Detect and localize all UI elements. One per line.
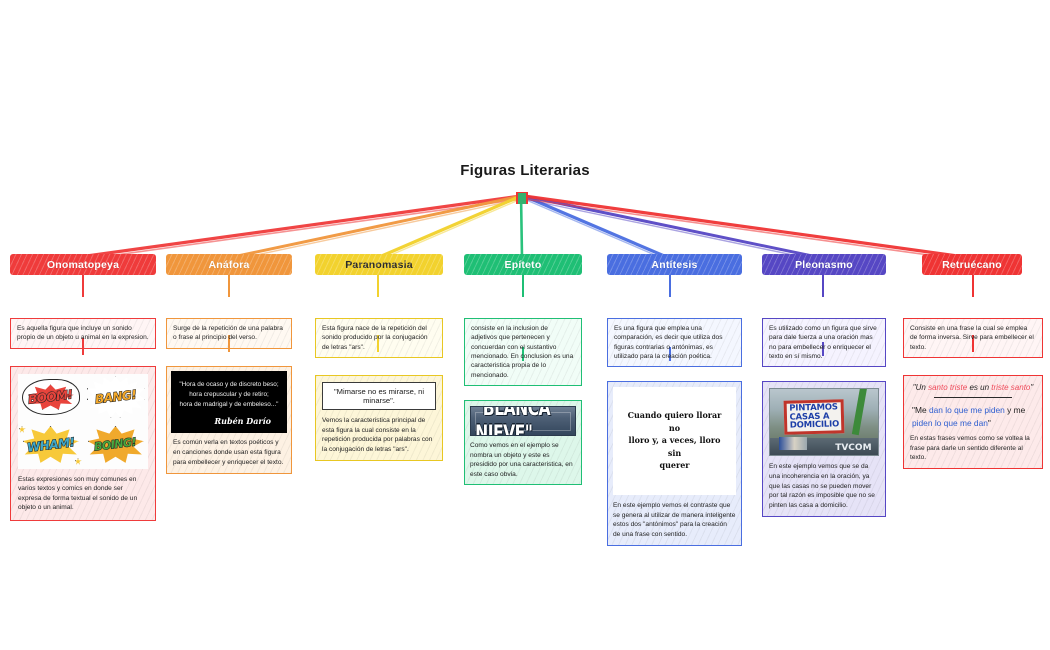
node-label-epiteto: Epíteto xyxy=(505,259,542,271)
serif-quote-block: Cuando quiero llorar no lloro y, a veces… xyxy=(613,387,736,495)
mindmap-canvas: Figuras Literarias Onomatopeya Es aquell… xyxy=(0,0,1050,650)
root-node-title: Figuras Literarias xyxy=(0,162,1050,179)
example-caption: En estas frases vemos como se voltea la … xyxy=(910,434,1036,463)
example-panel-onomatopeya: BOOM! BANG! WHAM! BOING! Estas expresio xyxy=(10,366,156,521)
example-caption: Es común verla en textos poéticos y en c… xyxy=(171,438,287,469)
branch-onomatopeya: Onomatopeya Es aquella figura que incluy… xyxy=(10,254,156,521)
example-panel-pleonasmo: PINTAMOSCASAS ADOMICILIO TVCOM En este e… xyxy=(762,381,886,517)
phrase-segment: "Me xyxy=(912,405,929,415)
quote-line: "Hora de ocaso y de discreto beso; xyxy=(179,380,279,390)
burst-boing: BOING! xyxy=(87,425,145,465)
phrase-segment: triste santo xyxy=(991,383,1030,392)
example-caption: Estas expresiones son muy comunes en var… xyxy=(18,475,148,513)
branch-retruecano: Retruécano Consiste en una frase la cual… xyxy=(903,254,1043,469)
phrase-segment: " xyxy=(1030,383,1033,392)
node-label-anafora: Anáfora xyxy=(208,259,249,271)
retruecano-phrase-2: "Me dan lo que me piden y me piden lo qu… xyxy=(910,404,1036,434)
node-label-retruecano: Retruécano xyxy=(942,259,1002,271)
example-panel-paranomasia: "Mimarse no es mirarse, ni minarse". Vem… xyxy=(315,375,443,461)
phrase-segment: "Un xyxy=(913,383,928,392)
pole-decoration xyxy=(852,388,867,434)
node-label-paranomasia: Paranomasia xyxy=(345,259,413,271)
divider xyxy=(934,397,1012,398)
example-panel-retruecano: "Un santo triste es un triste santo" "Me… xyxy=(903,375,1043,469)
banner-text: TVCOM xyxy=(835,443,871,453)
node-label-pleonasmo: Pleonasmo xyxy=(795,259,853,271)
example-caption: En este ejemplo vemos que se da una inco… xyxy=(769,462,879,510)
dark-quote-block: "Hora de ocaso y de discreto beso; hora … xyxy=(171,371,287,434)
blanca-nieve-banner-image: "BLANCA NIEVE" xyxy=(470,406,576,436)
phrase-segment: dan lo que me piden xyxy=(929,405,1005,415)
description-panel-epiteto: consiste en la inclusion de adjetivos qu… xyxy=(464,318,582,386)
burst-boom: BOOM! xyxy=(22,377,80,417)
example-caption: En este ejemplo vemos el contraste que s… xyxy=(613,501,736,539)
phrase-segment: piden lo que me dan xyxy=(912,418,988,428)
quote-author: Rubén Darío xyxy=(179,416,279,426)
branch-anafora: Anáfora Surge de la repetición de una pa… xyxy=(166,254,292,474)
description-panel-retruecano: Consiste en una frase la cual se emplea … xyxy=(903,318,1043,358)
example-phrase-box: "Mimarse no es mirarse, ni minarse". xyxy=(322,382,436,410)
connector-stub xyxy=(669,275,671,297)
node-header-pleonasmo[interactable]: Pleonasmo xyxy=(762,254,886,275)
quote-line: querer xyxy=(623,459,726,471)
description-text: Es aquella figura que incluye un sonido … xyxy=(17,324,149,343)
connector-stub xyxy=(972,275,974,297)
description-panel-antitesis: Es una figura que emplea una comparación… xyxy=(607,318,742,367)
node-header-anafora[interactable]: Anáfora xyxy=(166,254,292,275)
phrase-segment: " xyxy=(988,418,991,428)
sign-text: PINTAMOSCASAS ADOMICILIO xyxy=(789,404,839,431)
retruecano-phrase-1: "Un santo triste es un triste santo" xyxy=(910,381,1036,396)
branch-antitesis: Antítesis Es una figura que emplea una c… xyxy=(607,254,742,546)
connector-stub xyxy=(82,275,84,297)
node-header-retruecano[interactable]: Retruécano xyxy=(922,254,1022,275)
branch-epiteto: Epíteto consiste en la inclusion de adje… xyxy=(464,254,582,485)
quote-line: hora crepuscular y de retiro; xyxy=(179,390,279,400)
node-header-paranomasia[interactable]: Paranomasia xyxy=(315,254,443,275)
connector-stub xyxy=(522,275,524,297)
quote-line: lloro y, a veces, lloro sin xyxy=(623,434,726,459)
description-text: consiste en la inclusion de adjetivos qu… xyxy=(471,324,575,380)
example-panel-anafora: "Hora de ocaso y de discreto beso; hora … xyxy=(166,366,292,474)
branch-pleonasmo: Pleonasmo Es utilizado como un figura qu… xyxy=(762,254,886,517)
banner-text: "BLANCA NIEVE" xyxy=(475,406,571,436)
description-text: Es utilizado como un figura que sirve pa… xyxy=(769,324,879,361)
phrase-segment: y me xyxy=(1005,405,1025,415)
description-text: Surge de la repetición de una palabra o … xyxy=(173,324,285,343)
description-panel-pleonasmo: Es utilizado como un figura que sirve pa… xyxy=(762,318,886,367)
node-header-antitesis[interactable]: Antítesis xyxy=(607,254,742,275)
description-text: Es una figura que emplea una comparación… xyxy=(614,324,735,361)
connector-stub xyxy=(377,275,379,297)
photo-detail xyxy=(779,437,807,450)
branch-paranomasia: Paranomasia Esta figura nace de la repet… xyxy=(315,254,443,461)
phrase-segment: es un xyxy=(967,383,991,392)
quote-line: hora de madrigal y de embeleso..." xyxy=(179,400,279,410)
node-header-epiteto[interactable]: Epíteto xyxy=(464,254,582,275)
connector-stub xyxy=(228,275,230,297)
example-caption: Como vemos en el ejemplo se nombra un ob… xyxy=(470,441,576,479)
quote-line: Cuando quiero llorar no xyxy=(623,409,726,434)
street-sign-photo: PINTAMOSCASAS ADOMICILIO TVCOM xyxy=(769,388,879,456)
description-text: Consiste en una frase la cual se emplea … xyxy=(910,324,1036,352)
comic-burst-image: BOOM! BANG! WHAM! BOING! xyxy=(18,374,148,469)
burst-wham: WHAM! xyxy=(22,425,80,465)
example-panel-epiteto: "BLANCA NIEVE" Como vemos en el ejemplo … xyxy=(464,400,582,485)
connector-stub xyxy=(822,275,824,297)
node-label-antitesis: Antítesis xyxy=(651,259,697,271)
description-text: Esta figura nace de la repetición del so… xyxy=(322,324,436,352)
phrase-segment: santo triste xyxy=(928,383,967,392)
burst-bang: BANG! xyxy=(87,377,145,417)
example-caption: Vemos la caracteristica principal de est… xyxy=(322,416,436,454)
sign-board: PINTAMOSCASAS ADOMICILIO xyxy=(784,399,845,435)
node-label-onomatopeya: Onomatopeya xyxy=(47,259,119,271)
description-panel-paranomasia: Esta figura nace de la repetición del so… xyxy=(315,318,443,358)
node-header-onomatopeya[interactable]: Onomatopeya xyxy=(10,254,156,275)
example-panel-antitesis: Cuando quiero llorar no lloro y, a veces… xyxy=(607,381,742,545)
